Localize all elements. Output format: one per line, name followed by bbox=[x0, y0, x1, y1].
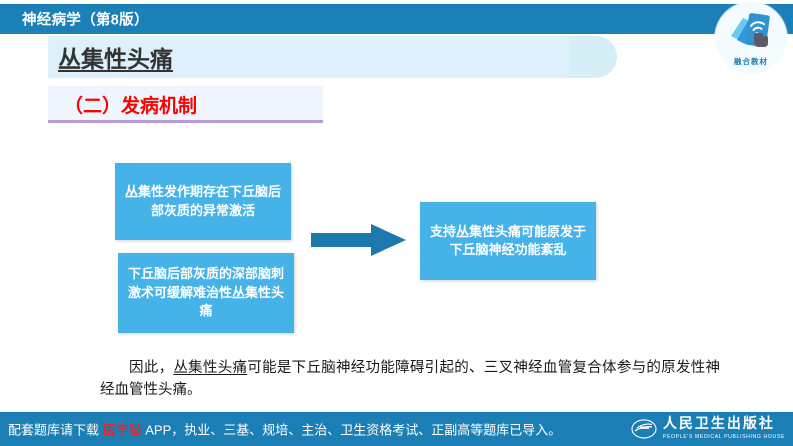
diagram-box-cause-2: 下丘脑后部灰质的深部脑刺激术可缓解难治性丛集性头痛 bbox=[118, 253, 294, 333]
diagram-box-cause-2-text: 下丘脑后部灰质的深部脑刺激术可缓解难治性丛集性头痛 bbox=[124, 265, 288, 320]
publisher-logo: 人民卫生出版社 PEOPLE'S MEDICAL PUBLISHING HOUS… bbox=[631, 418, 785, 440]
diagram-box-cause-1-text: 丛集性发作期存在下丘脑后部灰质的异常激活 bbox=[121, 183, 285, 220]
footer-promo-text: 配套题库请下载 医学猫 APP，执业、三基、规培、主治、卫生资格考试、正副高等题… bbox=[8, 420, 561, 439]
publisher-name-cn: 人民卫生出版社 bbox=[663, 418, 785, 432]
fusion-textbook-badge: 融合教材 bbox=[715, 2, 787, 74]
body-paragraph: 因此，丛集性头痛可能是下丘脑神经功能障碍引起的、三叉神经血管复合体参与的原发性神… bbox=[100, 357, 720, 402]
subtitle-underline-rule bbox=[48, 120, 323, 123]
diagram-box-conclusion: 支持丛集性头痛可能原发于下丘脑神经功能紊乱 bbox=[420, 202, 596, 280]
footer-text-before: 配套题库请下载 bbox=[8, 423, 103, 438]
section-subtitle: （二）发病机制 bbox=[64, 91, 197, 118]
page-title: 丛集性头痛 bbox=[58, 40, 173, 74]
right-arrow-icon bbox=[311, 222, 406, 258]
body-lead: 因此， bbox=[129, 360, 173, 376]
diagram-box-cause-1: 丛集性发作期存在下丘脑后部灰质的异常激活 bbox=[115, 163, 291, 240]
title-band-cap bbox=[569, 36, 617, 78]
footer-bar: 配套题库请下载 医学猫 APP，执业、三基、规培、主治、卫生资格考试、正副高等题… bbox=[0, 412, 793, 446]
badge-label: 融合教材 bbox=[715, 56, 787, 67]
publisher-name-block: 人民卫生出版社 PEOPLE'S MEDICAL PUBLISHING HOUS… bbox=[663, 418, 785, 440]
diagram-box-conclusion-text: 支持丛集性头痛可能原发于下丘脑神经功能紊乱 bbox=[426, 223, 590, 260]
publisher-emblem-icon bbox=[631, 419, 657, 439]
footer-app-name: 医学猫 bbox=[103, 423, 142, 438]
body-underlined-term: 丛集性头痛 bbox=[173, 360, 247, 376]
publisher-name-en: PEOPLE'S MEDICAL PUBLISHING HOUSE bbox=[663, 435, 785, 440]
top-header-bar: 神经病学（第8版） bbox=[0, 4, 793, 34]
footer-text-after: APP，执业、三基、规培、主治、卫生资格考试、正副高等题库已导入。 bbox=[142, 423, 562, 438]
tablet-wifi-hand-icon bbox=[727, 10, 775, 54]
book-title: 神经病学（第8版） bbox=[22, 9, 149, 30]
